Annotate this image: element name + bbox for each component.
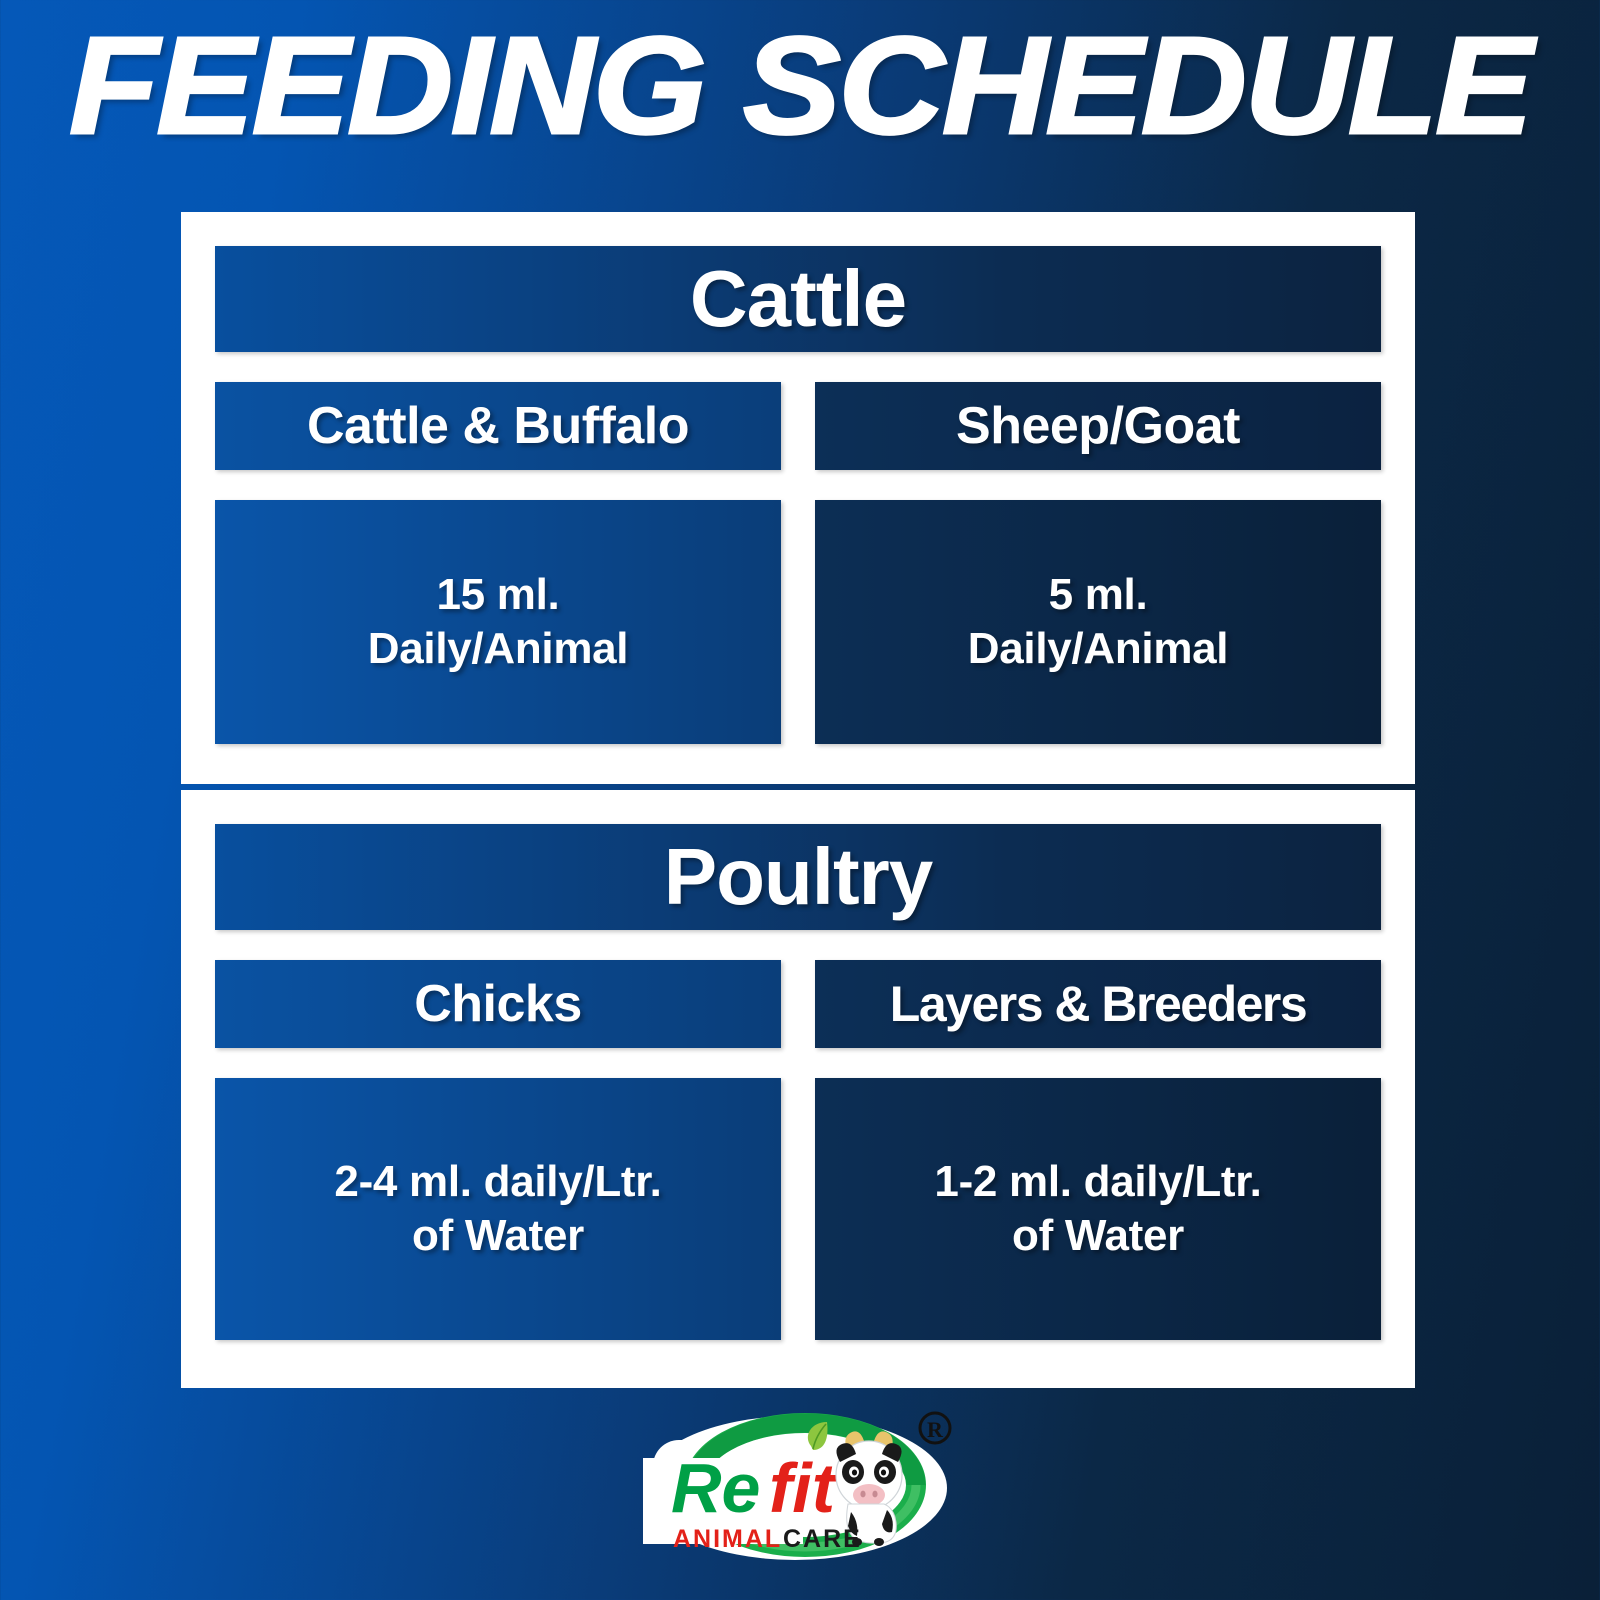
- section-cattle: Cattle Cattle & Buffalo 15 ml.Daily/Anim…: [181, 212, 1415, 784]
- dose-chicks: 2-4 ml. daily/Ltr.of Water: [215, 1078, 781, 1340]
- logo-tagline-care: CARE: [783, 1525, 862, 1553]
- dose-chicks-text: 2-4 ml. daily/Ltr.of Water: [324, 1155, 671, 1262]
- label-chicks-text: Chicks: [408, 978, 588, 1030]
- cattle-column-right: Sheep/Goat 5 ml.Daily/Animal: [815, 382, 1381, 744]
- cattle-columns: Cattle & Buffalo 15 ml.Daily/Animal Shee…: [215, 382, 1381, 744]
- label-layers-breeders-text: Layers & Breeders: [884, 979, 1312, 1029]
- poultry-column-right: Layers & Breeders 1-2 ml. daily/Ltr.of W…: [815, 960, 1381, 1340]
- poultry-column-left: Chicks 2-4 ml. daily/Ltr.of Water: [215, 960, 781, 1340]
- spacer: [215, 930, 1381, 960]
- label-cattle-buffalo: Cattle & Buffalo: [215, 382, 781, 470]
- dose-layers-breeders-text: 1-2 ml. daily/Ltr.of Water: [924, 1155, 1271, 1262]
- logo-brand-re: Re: [671, 1449, 760, 1527]
- section-heading-cattle-label: Cattle: [690, 259, 906, 339]
- cattle-column-left: Cattle & Buffalo 15 ml.Daily/Animal: [215, 382, 781, 744]
- label-cattle-buffalo-text: Cattle & Buffalo: [301, 400, 695, 452]
- svg-text:R: R: [927, 1417, 944, 1442]
- logo-tagline-animal: ANIMAL: [673, 1525, 782, 1553]
- poultry-columns: Chicks 2-4 ml. daily/Ltr.of Water Layers…: [215, 960, 1381, 1340]
- spacer: [215, 1048, 781, 1078]
- registered-trademark-icon: R: [920, 1413, 950, 1443]
- spacer: [815, 470, 1381, 500]
- page-title: FEEDING SCHEDULE: [0, 14, 1600, 159]
- section-heading-cattle: Cattle: [215, 246, 1381, 352]
- spacer: [815, 1048, 1381, 1078]
- logo-brand-fit: fit: [769, 1449, 838, 1527]
- label-chicks: Chicks: [215, 960, 781, 1048]
- dose-sheep-goat-text: 5 ml.Daily/Animal: [958, 568, 1239, 675]
- dose-sheep-goat: 5 ml.Daily/Animal: [815, 500, 1381, 744]
- dose-layers-breeders: 1-2 ml. daily/Ltr.of Water: [815, 1078, 1381, 1340]
- spacer: [215, 470, 781, 500]
- dose-cattle-buffalo: 15 ml.Daily/Animal: [215, 500, 781, 744]
- label-layers-breeders: Layers & Breeders: [815, 960, 1381, 1048]
- section-heading-poultry: Poultry: [215, 824, 1381, 930]
- section-poultry: Poultry Chicks 2-4 ml. daily/Ltr.of Wate…: [181, 790, 1415, 1388]
- label-sheep-goat-text: Sheep/Goat: [950, 400, 1246, 452]
- brand-logo: Re fit: [0, 1400, 1600, 1575]
- label-sheep-goat: Sheep/Goat: [815, 382, 1381, 470]
- section-heading-poultry-label: Poultry: [664, 837, 933, 917]
- spacer: [215, 352, 1381, 382]
- dose-cattle-buffalo-text: 15 ml.Daily/Animal: [358, 568, 639, 675]
